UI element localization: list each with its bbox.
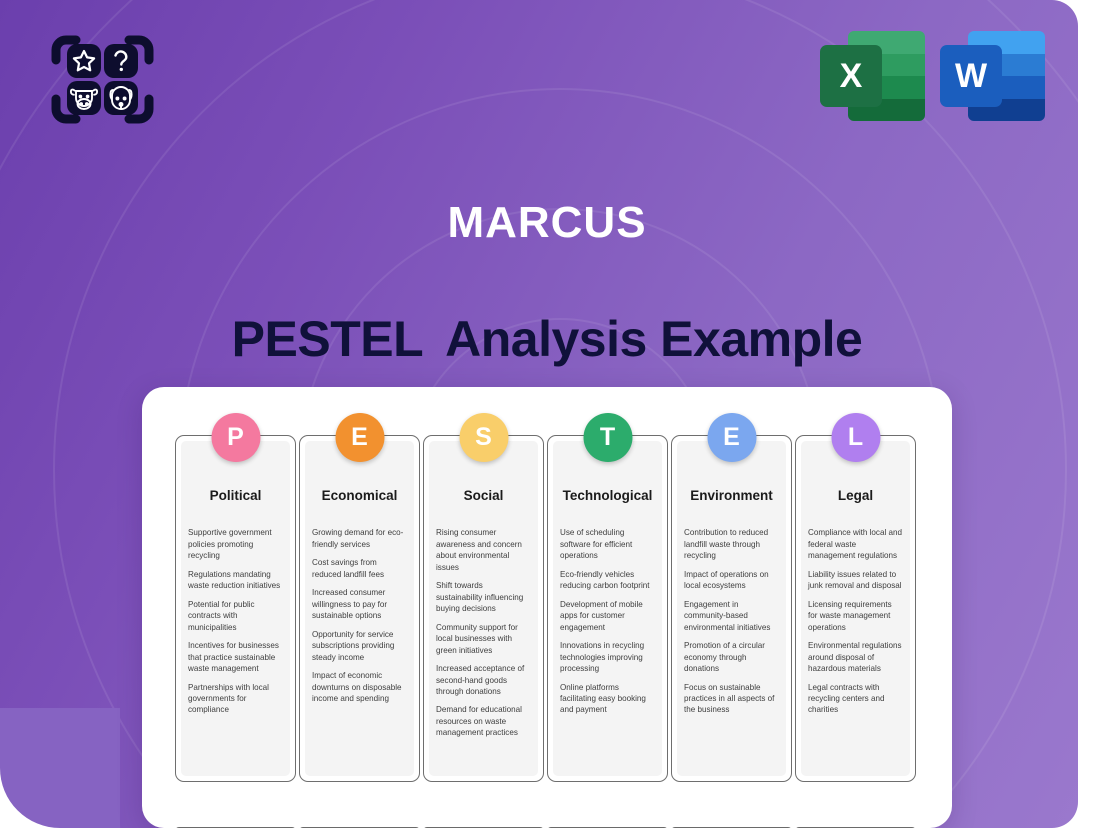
word-icon: W <box>940 31 1045 121</box>
question-mark-icon <box>104 44 138 78</box>
pestel-column-legal: LLegalCompliance with local and federal … <box>795 435 916 828</box>
page-title: PESTELAnalysis Example <box>0 310 1094 368</box>
bullet-item: Environmental regulations around disposa… <box>808 640 903 674</box>
bullet-item: Legal contracts with recycling centers a… <box>808 682 903 716</box>
bullet-item: Use of scheduling software for efficient… <box>560 527 655 561</box>
pestel-column-political: PPoliticalSupportive government policies… <box>175 435 296 828</box>
star-icon <box>67 44 101 78</box>
bullet-item: Promotion of a circular economy through … <box>684 640 779 674</box>
column-bullets: Use of scheduling software for efficient… <box>560 527 655 723</box>
bullet-item: Impact of economic downturns on disposab… <box>312 670 407 704</box>
column-badge-p0: P <box>211 413 260 462</box>
pestel-columns: PPoliticalSupportive government policies… <box>175 435 923 828</box>
bullet-item: Development of mobile apps for customer … <box>560 599 655 633</box>
bullet-item: Increased consumer willingness to pay fo… <box>312 587 407 621</box>
column-card[interactable]: EconomicalGrowing demand for eco-friendl… <box>299 435 420 782</box>
column-title: Environment <box>684 488 779 504</box>
pestel-column-social: SSocialRising consumer awareness and con… <box>423 435 544 828</box>
column-title: Social <box>436 488 531 504</box>
column-badge-s2: S <box>459 413 508 462</box>
excel-icon: X <box>820 31 925 121</box>
bullet-item: Eco-friendly vehicles reducing carbon fo… <box>560 569 655 592</box>
pestel-column-environment: EEnvironmentContribution to reduced land… <box>671 435 792 828</box>
pestel-column-economical: EEconomicalGrowing demand for eco-friend… <box>299 435 420 828</box>
column-badge-t3: T <box>583 413 632 462</box>
bullet-item: Supportive government policies promoting… <box>188 527 283 561</box>
poster-stage: X W MARCUS PESTELAnalysis Example PPolit… <box>0 0 1100 828</box>
backdrop-corner <box>0 708 120 828</box>
word-letter: W <box>940 45 1002 107</box>
bullet-item: Shift towards sustainability influencing… <box>436 580 531 614</box>
excel-letter: X <box>820 45 882 107</box>
bullet-item: Opportunity for service subscriptions pr… <box>312 629 407 663</box>
marcus-logo <box>50 27 155 132</box>
column-bullets: Contribution to reduced landfill waste t… <box>684 527 779 723</box>
bullet-item: Regulations mandating waste reduction in… <box>188 569 283 592</box>
title-pestel: PESTEL <box>232 311 423 367</box>
bullet-item: Liability issues related to junk removal… <box>808 569 903 592</box>
column-bullets: Compliance with local and federal waste … <box>808 527 903 723</box>
bullet-item: Compliance with local and federal waste … <box>808 527 903 561</box>
column-bullets: Growing demand for eco-friendly services… <box>312 527 407 711</box>
bullet-item: Potential for public contracts with muni… <box>188 599 283 633</box>
bullet-item: Increased acceptance of second-hand good… <box>436 663 531 697</box>
pestel-panel: PPoliticalSupportive government policies… <box>142 387 952 828</box>
bullet-item: Innovations in recycling technologies im… <box>560 640 655 674</box>
column-badge-l5: L <box>831 413 880 462</box>
column-title: Legal <box>808 488 903 504</box>
title-analysis-example: Analysis Example <box>445 311 862 367</box>
brand-name: MARCUS <box>0 198 1094 248</box>
column-card[interactable]: TechnologicalUse of scheduling software … <box>547 435 668 782</box>
column-badge-e4: E <box>707 413 756 462</box>
bullet-item: Licensing requirements for waste managem… <box>808 599 903 633</box>
bullet-item: Partnerships with local governments for … <box>188 682 283 716</box>
column-badge-e1: E <box>335 413 384 462</box>
bullet-item: Demand for educational resources on wast… <box>436 704 531 738</box>
bullet-item: Engagement in community-based environmen… <box>684 599 779 633</box>
bullet-item: Focus on sustainable practices in all as… <box>684 682 779 716</box>
column-bullets: Rising consumer awareness and concern ab… <box>436 527 531 746</box>
column-title: Technological <box>560 488 655 504</box>
column-title: Political <box>188 488 283 504</box>
bullet-item: Impact of operations on local ecosystems <box>684 569 779 592</box>
pestel-column-technological: TTechnologicalUse of scheduling software… <box>547 435 668 828</box>
bullet-item: Online platforms facilitating easy booki… <box>560 682 655 716</box>
column-bullets: Supportive government policies promoting… <box>188 527 283 723</box>
bullet-item: Community support for local businesses w… <box>436 622 531 656</box>
column-card[interactable]: SocialRising consumer awareness and conc… <box>423 435 544 782</box>
column-card[interactable]: EnvironmentContribution to reduced landf… <box>671 435 792 782</box>
column-card[interactable]: PoliticalSupportive government policies … <box>175 435 296 782</box>
bullet-item: Incentives for businesses that practice … <box>188 640 283 674</box>
bullet-item: Growing demand for eco-friendly services <box>312 527 407 550</box>
column-title: Economical <box>312 488 407 504</box>
column-card[interactable]: LegalCompliance with local and federal w… <box>795 435 916 782</box>
bullet-item: Rising consumer awareness and concern ab… <box>436 527 531 573</box>
bullet-item: Cost savings from reduced landfill fees <box>312 557 407 580</box>
bullet-item: Contribution to reduced landfill waste t… <box>684 527 779 561</box>
